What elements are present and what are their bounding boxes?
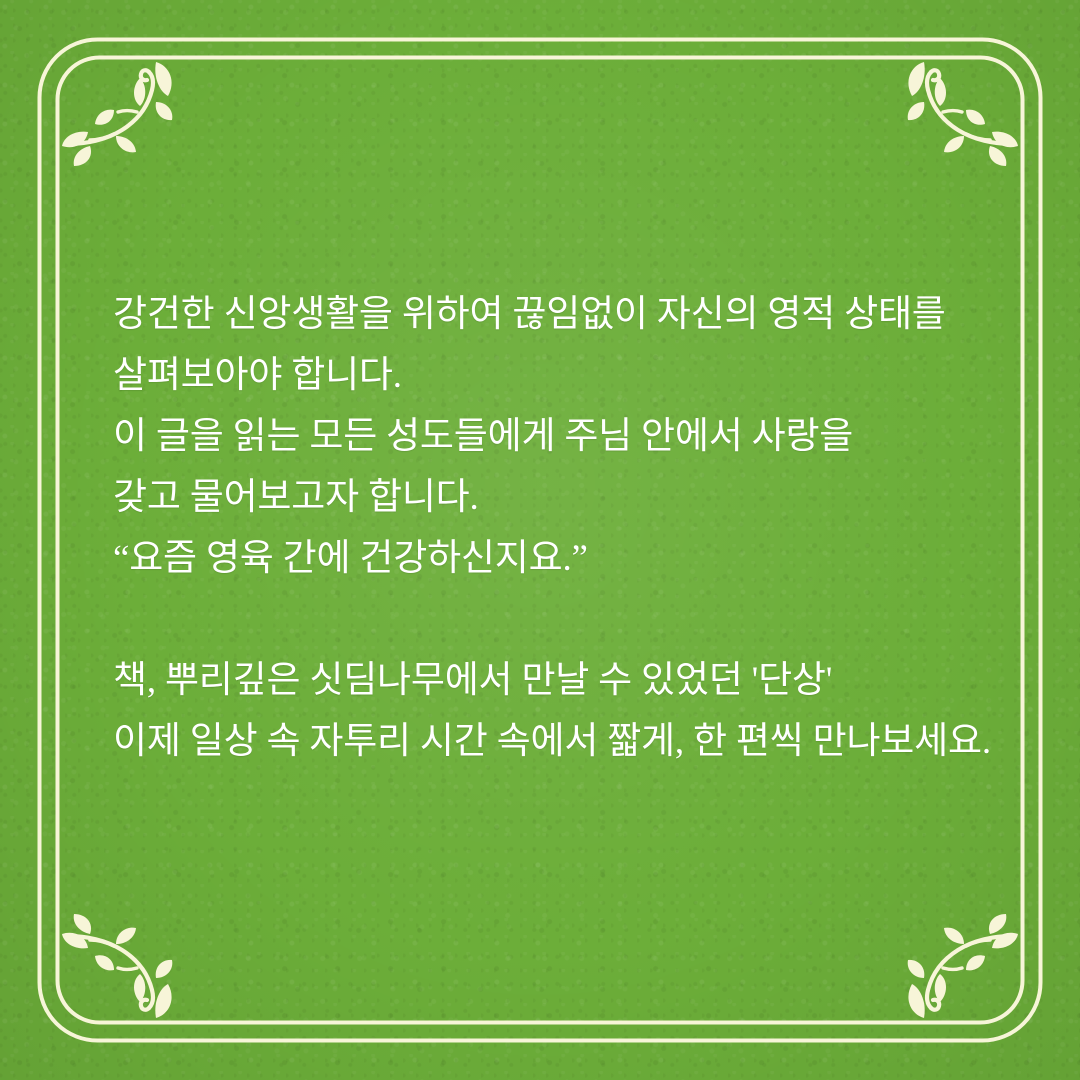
text-line: 이제 일상 속 자투리 시간 속에서 짧게, 한 편씩 만나보세요. <box>113 711 993 772</box>
ornament-bottom-left <box>62 914 172 1018</box>
paragraph-1: 강건한 신앙생활을 위하여 끊임없이 자신의 영적 상태를 살펴보아야 합니다.… <box>113 284 993 589</box>
text-line: “요즘 영육 간에 건강하신지요.” <box>113 528 993 589</box>
text-line: 갖고 물어보고자 합니다. <box>113 467 993 528</box>
ornament-top-left <box>62 62 172 166</box>
paragraph-2: 책, 뿌리깊은 싯딤나무에서 만날 수 있었던 '단상' 이제 일상 속 자투리… <box>113 650 993 772</box>
text-line: 강건한 신앙생활을 위하여 끊임없이 자신의 영적 상태를 <box>113 284 993 345</box>
quote-card: 강건한 신앙생활을 위하여 끊임없이 자신의 영적 상태를 살펴보아야 합니다.… <box>0 0 1080 1080</box>
text-line: 살펴보아야 합니다. <box>113 345 993 406</box>
ornament-bottom-right <box>908 914 1018 1018</box>
ornament-top-right <box>908 62 1018 166</box>
text-line: 책, 뿌리깊은 싯딤나무에서 만날 수 있었던 '단상' <box>113 650 993 711</box>
text-line: 이 글을 읽는 모든 성도들에게 주님 안에서 사랑을 <box>113 406 993 467</box>
quote-text-block: 강건한 신앙생활을 위하여 끊임없이 자신의 영적 상태를 살펴보아야 합니다.… <box>113 284 993 772</box>
